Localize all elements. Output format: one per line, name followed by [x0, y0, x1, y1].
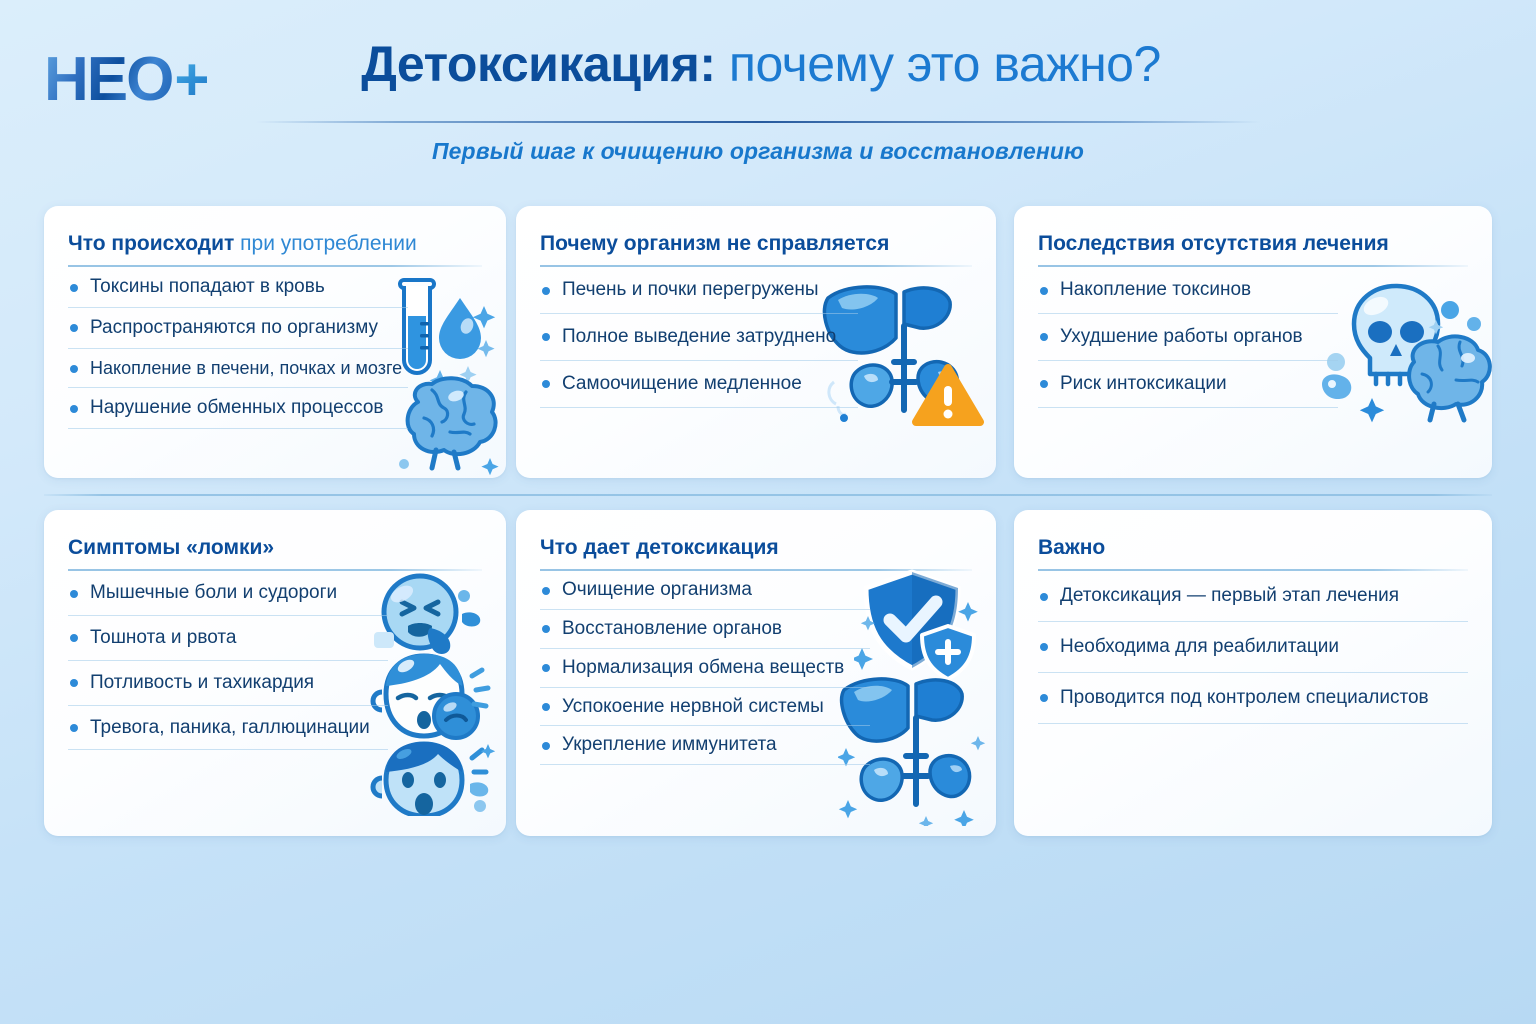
list-item-label: Тошнота и рвота: [90, 627, 236, 648]
card-title: Что происходит при употреблении: [68, 232, 482, 256]
bullet-dot-icon: [542, 703, 550, 711]
card-bullet-list: Детоксикация — первый этап лечения Необх…: [1038, 571, 1468, 723]
card-title-strong: Что дает детоксикация: [540, 536, 779, 559]
list-item: Успокоение нервной системы: [540, 688, 870, 727]
list-item-label: Токсины попадают в кровь: [90, 276, 325, 297]
nauseated-face-icon: [374, 576, 480, 654]
list-item: Тревога, паника, галлюцинации: [68, 706, 388, 751]
sparkle-icon: [481, 744, 495, 758]
card-why-body-fails: Почему организм не справляется: [516, 206, 996, 478]
card-important: Важно Детоксикация — первый этап лечения…: [1014, 510, 1492, 836]
bullet-dot-icon: [70, 590, 78, 598]
card-consequences: Последствия отсутствия лечения: [1014, 206, 1492, 478]
list-item: Накопление токсинов: [1038, 267, 1338, 314]
list-item: Потливость и тахикардия: [68, 661, 388, 706]
list-item-label: Ухудшение работы органов: [1060, 326, 1303, 347]
list-item: Распространяются по организму: [68, 308, 408, 349]
list-item-label: Самоочищение медленное: [562, 373, 802, 394]
bullet-dot-icon: [70, 284, 78, 292]
bullet-dot-icon: [70, 365, 78, 373]
list-item: Самоочищение медленное: [540, 361, 858, 408]
card-title-soft: при употреблении: [234, 232, 416, 255]
card-title-strong: Важно: [1038, 536, 1105, 559]
bullet-dot-icon: [1040, 593, 1048, 601]
brand-logo-plus-icon: +: [174, 50, 209, 110]
bullet-dot-icon: [1040, 380, 1048, 388]
page-title: Детоксикация: почему это важно?: [256, 38, 1266, 91]
page-header: НЕО+ Детоксикация: почему это важно? Пер…: [0, 0, 1536, 190]
water-drop-icon: [439, 298, 481, 359]
kidneys-icon: [851, 326, 957, 410]
page-subtitle: Первый шаг к очищению организма и восста…: [256, 138, 1260, 165]
card-bullet-list: Накопление токсинов Ухудшение работы орг…: [1038, 267, 1338, 407]
title-divider: [256, 121, 1260, 123]
list-item: Риск интоксикации: [1038, 361, 1338, 408]
bullet-dot-icon: [542, 664, 550, 672]
card-bullet-list: Токсины попадают в кровь Распространяютс…: [68, 267, 408, 429]
brand-logo-text: НЕО: [44, 49, 172, 111]
bullet-dot-icon: [542, 625, 550, 633]
list-item-label: Распространяются по организму: [90, 317, 378, 338]
list-item: Мышечные боли и судороги: [68, 571, 388, 616]
infographic-canvas: НЕО+ Детоксикация: почему это важно? Пер…: [0, 0, 1536, 1024]
list-item-label: Риск интоксикации: [1060, 373, 1227, 394]
bullet-dot-icon: [542, 742, 550, 750]
list-item: Нормализация обмена веществ: [540, 649, 870, 688]
bullet-dot-icon: [1040, 287, 1048, 295]
card-withdrawal-symptoms: Симптомы «ломки»: [44, 510, 506, 836]
kidneys-icon: [861, 718, 969, 804]
list-item-label: Нарушение обменных процессов: [90, 397, 384, 418]
card-title: Симптомы «ломки»: [68, 536, 482, 560]
sparkle-icon: [1322, 301, 1481, 422]
bullet-dot-icon: [70, 405, 78, 413]
list-item: Нарушение обменных процессов: [68, 388, 408, 429]
list-item-label: Очищение организма: [562, 579, 752, 600]
sparkle-icon: [430, 306, 496, 391]
card-title-strong: Последствия отсутствия лечения: [1038, 232, 1389, 255]
bullet-dot-icon: [1040, 643, 1048, 651]
list-item-label: Накопление токсинов: [1060, 279, 1251, 300]
list-item: Детоксикация — первый этап лечения: [1038, 571, 1468, 622]
list-item-label: Детоксикация — первый этап лечения: [1060, 585, 1399, 606]
shocked-face-icon: [373, 742, 495, 816]
bullet-dot-icon: [542, 287, 550, 295]
card-bullet-list: Очищение организма Восстановление органо…: [540, 571, 870, 765]
sparkle-icon: [481, 458, 498, 475]
card-title: Что дает детоксикация: [540, 536, 972, 560]
list-item-label: Мышечные боли и судороги: [90, 582, 337, 603]
card-detox-benefits: Что дает детоксикация: [516, 510, 996, 836]
bullet-dot-icon: [70, 679, 78, 687]
bullet-dot-icon: [70, 634, 78, 642]
list-item: Укрепление иммунитета: [540, 726, 870, 765]
card-bullet-list: Печень и почки перегружены Полное выведе…: [540, 267, 858, 407]
card-title-strong: Почему организм не справляется: [540, 232, 889, 255]
list-item-label: Печень и почки перегружены: [562, 279, 819, 300]
list-item: Очищение организма: [540, 571, 870, 610]
list-item: Тошнота и рвота: [68, 616, 388, 661]
list-item-label: Тревога, паника, галлюцинации: [90, 717, 370, 738]
bullet-dot-icon: [1040, 694, 1048, 702]
list-item-label: Восстановление органов: [562, 618, 782, 639]
bullet-dot-icon: [542, 380, 550, 388]
list-item: Полное выведение затруднено: [540, 314, 858, 361]
medical-shield-icon: [922, 626, 974, 679]
card-title: Важно: [1038, 536, 1468, 560]
card-bullet-list: Мышечные боли и судороги Тошнота и рвота…: [68, 571, 388, 750]
brand-logo: НЕО+: [44, 44, 254, 116]
list-item: Печень и почки перегружены: [540, 267, 858, 314]
sweating-face-icon: [373, 654, 488, 738]
list-item-label: Полное выведение затруднено: [562, 326, 836, 347]
brain-icon: [1409, 336, 1490, 420]
row-divider: [44, 494, 1492, 496]
list-item-label: Успокоение нервной системы: [562, 696, 824, 717]
warning-triangle-icon: [916, 368, 980, 422]
list-item: Проводится под контролем специалистов: [1038, 673, 1468, 724]
list-item: Ухудшение работы органов: [1038, 314, 1338, 361]
list-item-label: Укрепление иммунитета: [562, 734, 777, 755]
page-title-light: почему это важно?: [716, 36, 1161, 92]
list-item-label: Нормализация обмена веществ: [562, 657, 844, 678]
bullet-dot-icon: [70, 724, 78, 732]
list-item: Восстановление органов: [540, 610, 870, 649]
skull-icon: [1354, 286, 1438, 384]
list-item-label: Потливость и тахикардия: [90, 672, 314, 693]
list-item: Токсины попадают в кровь: [68, 267, 408, 308]
bullet-dot-icon: [70, 324, 78, 332]
card-what-happens: Что происходит при употреблении: [44, 206, 506, 478]
sparkle-icon: [854, 602, 978, 670]
card-title: Последствия отсутствия лечения: [1038, 232, 1468, 256]
bullet-dot-icon: [542, 333, 550, 341]
bullet-dot-icon: [1040, 333, 1048, 341]
card-title-strong: Что происходит: [68, 232, 234, 255]
list-item-label: Накопление в печени, почках и мозге: [90, 358, 402, 378]
card-title: Почему организм не справляется: [540, 232, 972, 256]
shield-check-icon: [854, 568, 978, 684]
card-title-strong: Симптомы «ломки»: [68, 536, 274, 559]
list-item: Накопление в печени, почках и мозге: [68, 349, 408, 389]
list-item: Необходима для реабилитации: [1038, 622, 1468, 673]
bullet-dot-icon: [542, 587, 550, 595]
page-title-strong: Детоксикация:: [361, 36, 715, 92]
list-item-label: Необходима для реабилитации: [1060, 636, 1339, 657]
list-item-label: Проводится под контролем специалистов: [1060, 687, 1429, 708]
